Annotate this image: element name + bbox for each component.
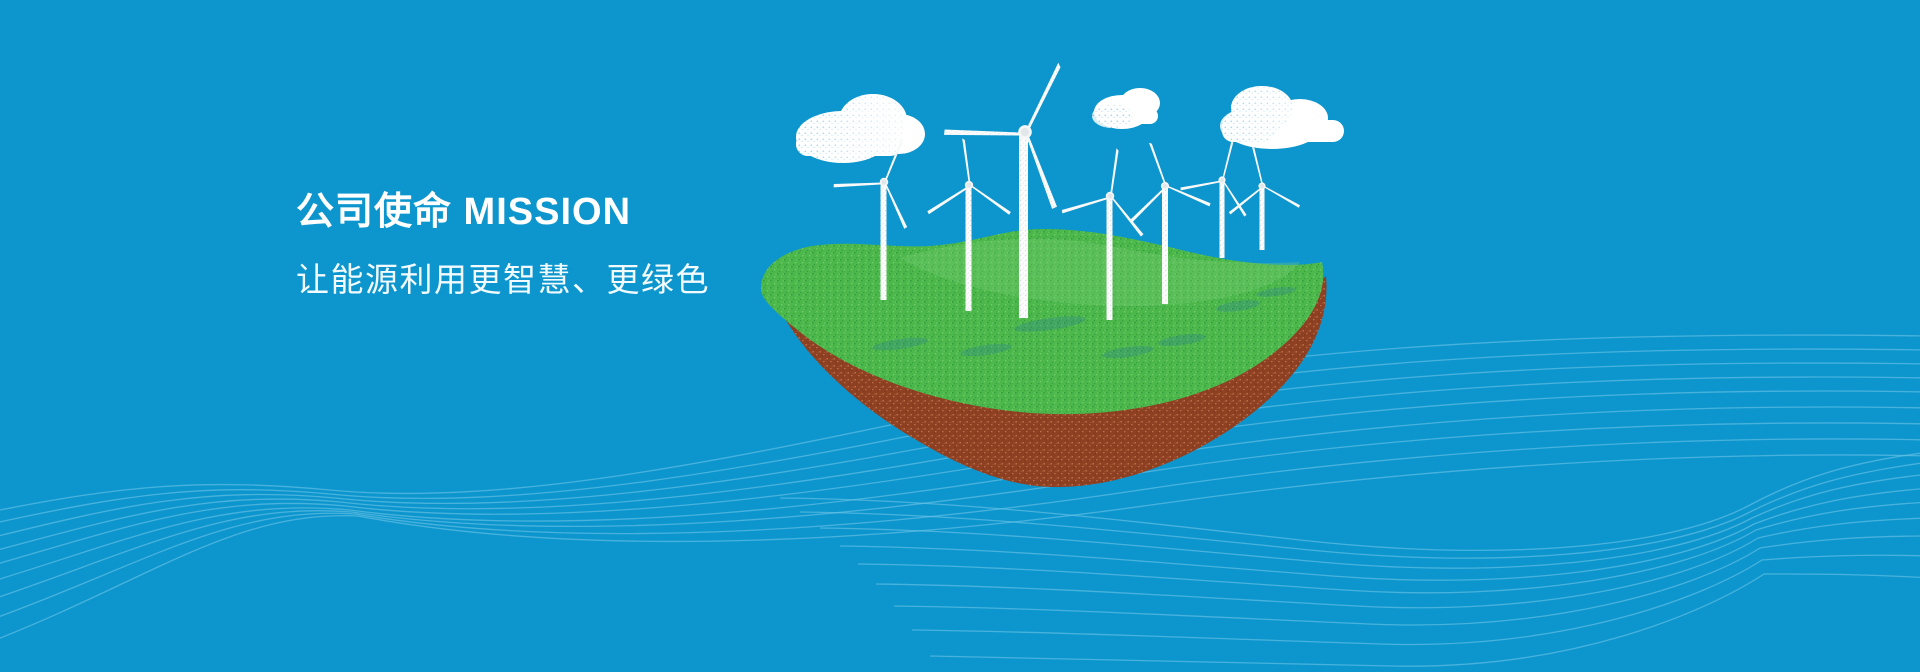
page-title: 公司使命 MISSION xyxy=(296,192,996,234)
turbine-7 xyxy=(1213,139,1300,250)
illustration-layer xyxy=(0,0,1920,672)
cloud-left xyxy=(796,94,925,163)
cloud-middle xyxy=(1092,88,1160,129)
mission-text-block: 公司使命 MISSION 让能源利用更智慧、更绿色 xyxy=(296,192,996,299)
mission-banner: 公司使命 MISSION 让能源利用更智慧、更绿色 xyxy=(0,0,1920,672)
mission-subtitle: 让能源利用更智慧、更绿色 xyxy=(296,260,996,300)
cloud-left-stipple xyxy=(796,94,907,163)
cloud-right xyxy=(1220,86,1344,149)
